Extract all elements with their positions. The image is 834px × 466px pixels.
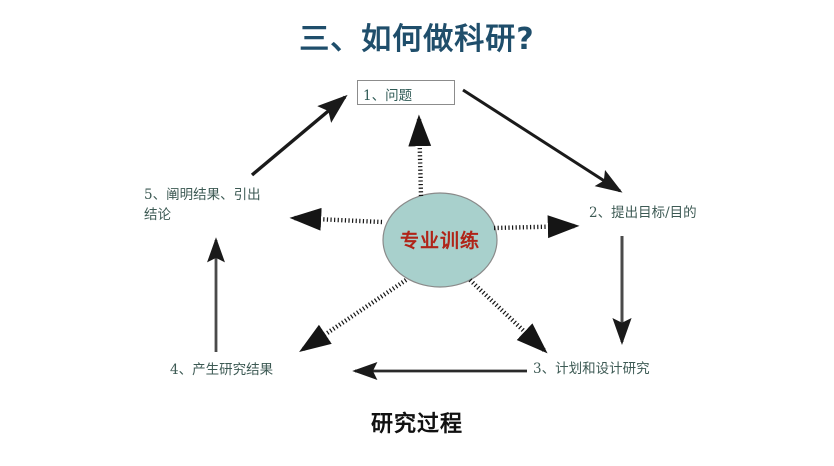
- node-problem-label: 1、问题: [363, 84, 412, 104]
- spoke-arrow-center-to-plan: [470, 280, 545, 351]
- slide-canvas: 三、如何做科研?: [0, 0, 834, 466]
- node-conclusion-label: 5、阐明结果、引出 结论: [144, 186, 274, 225]
- spoke-arrow-center-to-conclusion: [293, 218, 382, 222]
- cycle-arrow-conclusion-to-problem: [252, 97, 345, 175]
- spoke-arrow-center-to-results: [302, 280, 406, 350]
- node-goal-label: 2、提出目标/目的: [589, 204, 697, 224]
- node-results-label: 4、产生研究结果: [170, 361, 273, 381]
- cycle-arrow-problem-to-goal: [463, 90, 620, 191]
- node-plan-label: 3、计划和设计研究: [533, 360, 650, 380]
- center-node-label: 专业训练: [373, 226, 507, 253]
- diagram-caption: 研究过程: [0, 406, 834, 438]
- spoke-arrow-center-to-problem: [419, 118, 421, 196]
